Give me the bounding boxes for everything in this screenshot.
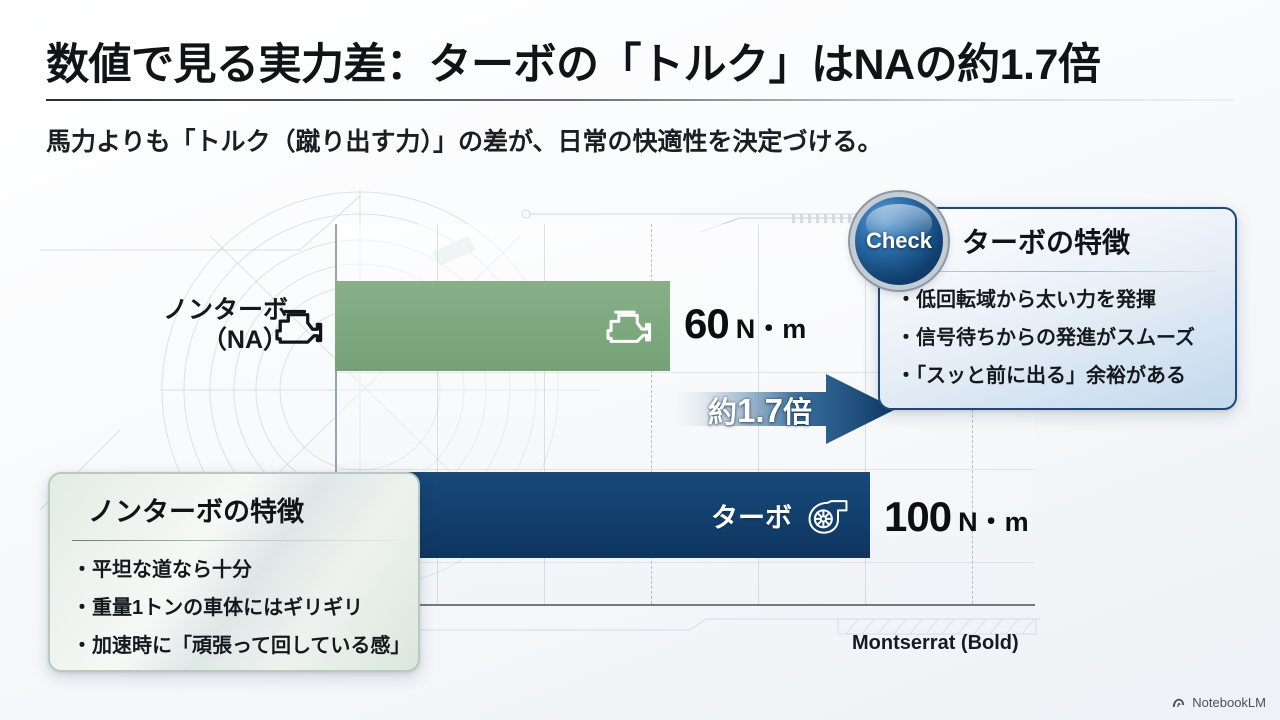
bar-na xyxy=(335,281,670,371)
font-caption: Montserrat (Bold) xyxy=(852,632,1019,655)
list-item: ・「スッと前に出る」余裕がある xyxy=(896,359,1235,388)
value-number-na: 60 xyxy=(684,300,729,347)
ratio-value: 1.7 xyxy=(737,392,783,429)
page-title: 数値で見る実力差：ターボの「トルク」はNAの約1.7倍 xyxy=(46,30,1236,92)
value-unit-na: N・m xyxy=(736,314,807,344)
card-na-bullet-list: ・平坦な道なら十分 ・重量1トンの車体にはギリギリ ・加速時に「頑張って回してい… xyxy=(72,553,418,658)
engine-icon xyxy=(272,305,324,347)
notebooklm-label: NotebookLM xyxy=(1192,695,1266,710)
category-label-na: ノンターボ （NA） xyxy=(148,296,288,355)
list-item: ・重量1トンの車体にはギリギリ xyxy=(72,591,418,620)
turbocharger-icon xyxy=(802,495,854,535)
card-na-heading: ノンターボの特徴 xyxy=(88,490,418,529)
check-badge: Check xyxy=(855,197,943,285)
value-label-turbo: 100N・m xyxy=(884,493,1029,541)
ratio-prefix: 約 xyxy=(708,397,737,429)
list-item: ・加速時に「頑張って回している感」 xyxy=(72,629,418,658)
list-item: ・低回転域から太い力を発揮 xyxy=(896,283,1235,312)
category-label-na-line1: ノンターボ xyxy=(163,296,288,324)
ratio-annotation: 約1.7倍 xyxy=(676,372,896,446)
dash-ticks xyxy=(792,214,851,223)
card-turbo-bullet-list: ・低回転域から太い力を発揮 ・信号待ちからの発進がスムーズ ・「スッと前に出る」… xyxy=(896,283,1235,388)
value-number-turbo: 100 xyxy=(884,493,951,540)
value-label-na: 60N・m xyxy=(684,300,806,348)
gridline-horizontal xyxy=(337,562,1035,563)
notebooklm-icon xyxy=(1171,695,1186,710)
gridline-horizontal xyxy=(337,469,1035,470)
card-na-features[interactable]: ノンターボの特徴 ・平坦な道なら十分 ・重量1トンの車体にはギリギリ ・加速時に… xyxy=(48,472,420,672)
title-divider xyxy=(46,99,1234,101)
page-subtitle: 馬力よりも「トルク（蹴り出す力）」の差が、日常の快適性を決定づける。 xyxy=(46,122,883,158)
check-badge-label: Check xyxy=(866,228,932,254)
value-unit-turbo: N・m xyxy=(958,507,1029,537)
ratio-label: 約1.7倍 xyxy=(694,389,826,431)
ratio-suffix: 倍 xyxy=(783,397,812,429)
slide-canvas: 数値で見る実力差：ターボの「トルク」はNAの約1.7倍 馬力よりも「トルク（蹴り… xyxy=(0,0,1280,720)
list-item: ・平坦な道なら十分 xyxy=(72,553,418,582)
card-turbo-divider xyxy=(898,271,1217,272)
engine-icon-in-bar xyxy=(602,306,654,346)
category-label-na-line2: （NA） xyxy=(148,326,288,356)
card-turbo-heading: ターボの特徴 xyxy=(962,221,1235,261)
card-na-divider xyxy=(72,540,396,541)
notebooklm-watermark: NotebookLM xyxy=(1171,695,1266,710)
list-item: ・信号待ちからの発進がスムーズ xyxy=(896,321,1235,350)
bar-turbo-label: ターボ xyxy=(711,496,792,535)
